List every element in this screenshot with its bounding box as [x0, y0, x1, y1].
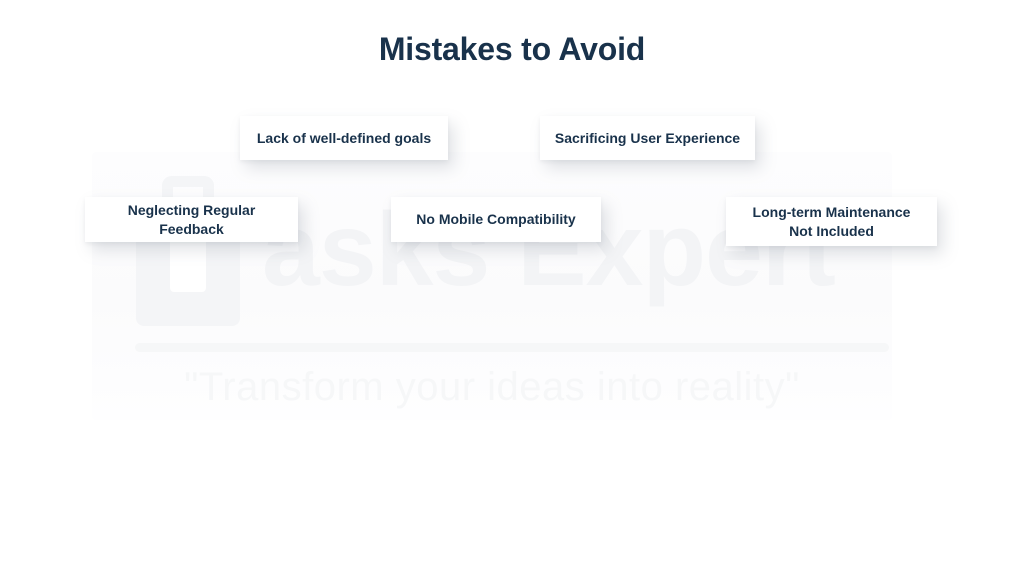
watermark-tagline: "Transform your ideas into reality"	[92, 360, 892, 414]
card-no-mobile-compatibility[interactable]: No Mobile Compatibility	[391, 197, 601, 242]
card-label: Lack of well-defined goals	[257, 129, 431, 148]
card-neglecting-regular-feedback[interactable]: Neglecting Regular Feedback	[85, 197, 298, 242]
card-label: Neglecting Regular Feedback	[95, 201, 288, 239]
card-label: Sacrificing User Experience	[555, 129, 740, 148]
watermark-logo-row: asks Expert	[132, 162, 932, 338]
briefcase-slot	[170, 234, 206, 292]
watermark-plate	[92, 152, 892, 420]
briefcase-icon	[132, 172, 244, 328]
watermark-divider	[135, 343, 889, 352]
page-title: Mistakes to Avoid	[0, 28, 1024, 70]
watermark: asks Expert "Transform your ideas into r…	[92, 152, 892, 420]
card-label: No Mobile Compatibility	[416, 210, 575, 229]
card-label: Long-term Maintenance Not Included	[753, 203, 911, 241]
slide-canvas: asks Expert "Transform your ideas into r…	[0, 0, 1024, 576]
card-sacrificing-user-experience[interactable]: Sacrificing User Experience	[540, 116, 755, 160]
card-long-term-maintenance-not-included[interactable]: Long-term Maintenance Not Included	[726, 197, 937, 246]
card-lack-of-well-defined-goals[interactable]: Lack of well-defined goals	[240, 116, 448, 160]
